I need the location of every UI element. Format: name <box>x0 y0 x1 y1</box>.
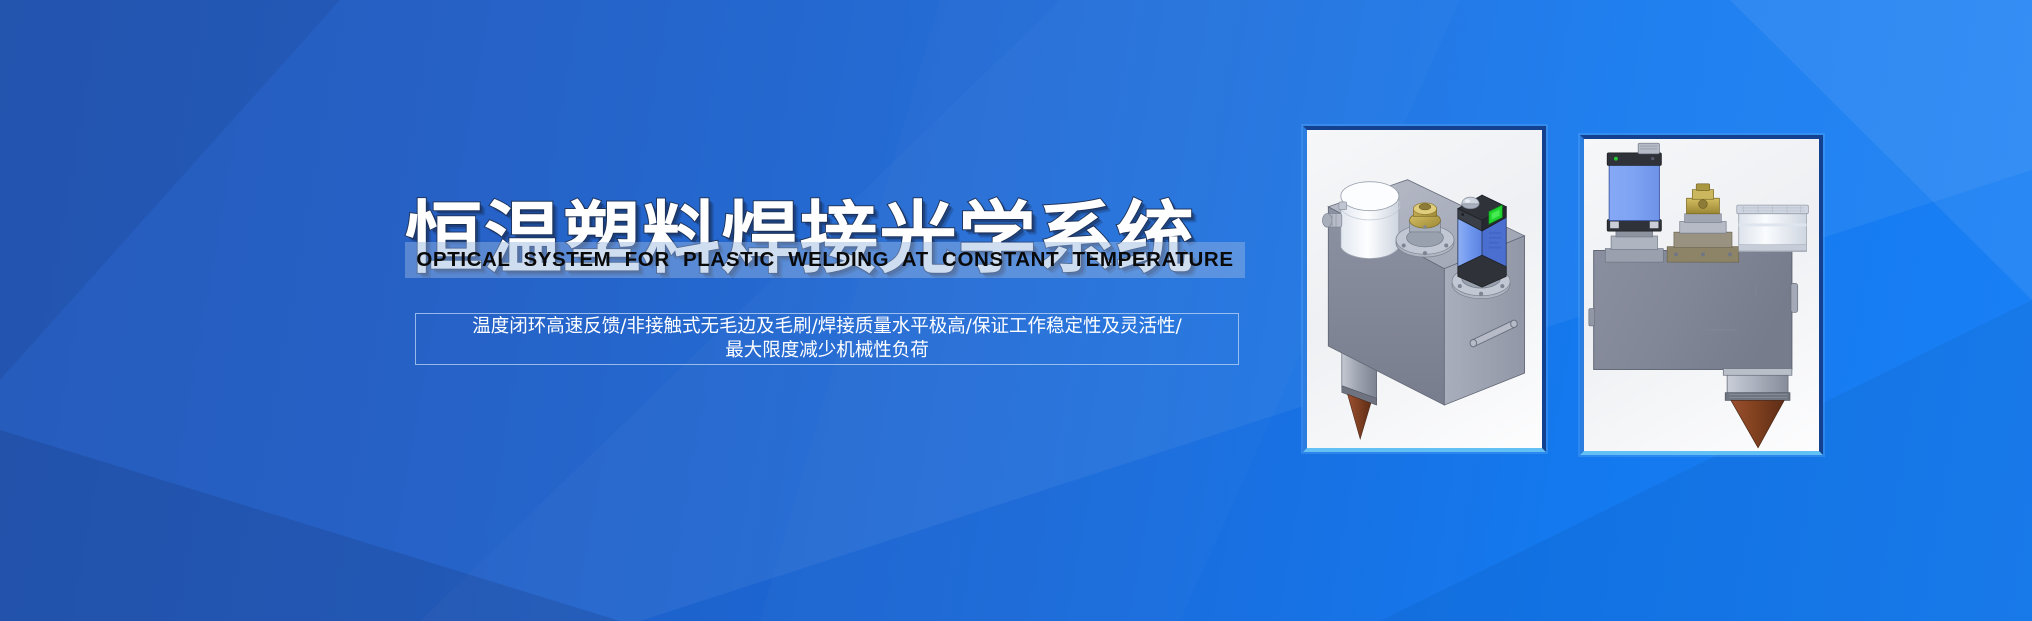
product-image-panel-isometric[interactable] <box>1303 126 1546 452</box>
laser-welding-head-isometric-icon <box>1307 130 1542 448</box>
laser-welding-head-front-icon <box>1584 139 1819 451</box>
subtitle-line-1: 温度闭环高速反馈/非接触式无毛边及毛刷/焊接质量水平极高/保证工作稳定性及灵活性… <box>472 315 1181 339</box>
subtitle-line-2: 最大限度减少机械性负荷 <box>725 339 929 363</box>
page-title-english: OPTICAL SYSTEM FOR PLASTIC WELDING AT CO… <box>405 243 1245 277</box>
title-block: 恒温塑料焊接光学系统 OPTICAL SYSTEM FOR PLASTIC WE… <box>405 200 1255 315</box>
subtitle-box: 温度闭环高速反馈/非接触式无毛边及毛刷/焊接质量水平极高/保证工作稳定性及灵活性… <box>415 313 1239 365</box>
product-image-panel-front[interactable] <box>1580 135 1823 455</box>
product-banner: 恒温塑料焊接光学系统 OPTICAL SYSTEM FOR PLASTIC WE… <box>0 0 2032 621</box>
